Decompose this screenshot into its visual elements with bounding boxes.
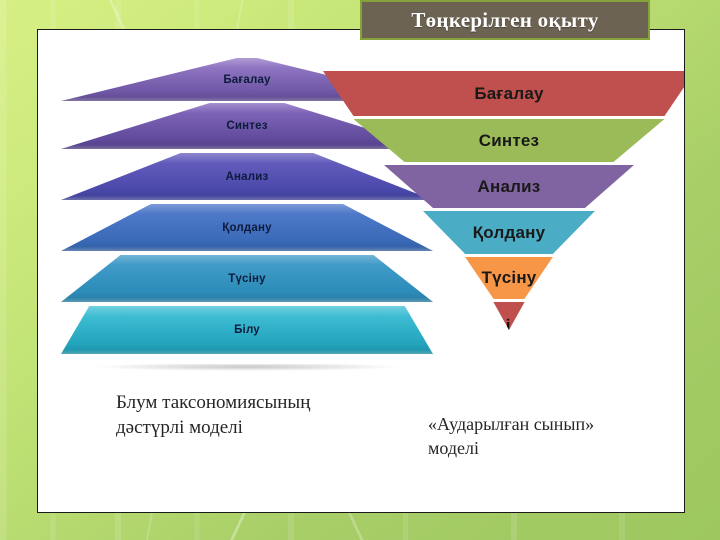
slide-content-card: Бағалау Синтез Анализ Қолдану Түсіну Біл <box>37 29 685 513</box>
inverted-level-label: Түсіну <box>465 268 553 288</box>
flipped-classroom-pyramid: Бағалау Синтез Анализ Қолдану Түсіну Біл… <box>323 71 685 333</box>
inverted-level-label: Анализ <box>384 177 634 197</box>
inverted-level-qoldanu: Қолдану <box>423 211 595 254</box>
pyramid-drop-shadow <box>96 364 398 371</box>
flipped-pyramid-caption: «Аударылған сынып» моделі <box>428 412 638 460</box>
inverted-level-label: Қолдану <box>423 223 595 243</box>
inverted-level-label: Білу <box>493 316 524 336</box>
page-title: Төңкерілген оқыту <box>411 8 598 33</box>
slide-title-box: Төңкерілген оқыту <box>360 0 650 40</box>
inverted-level-sintez: Синтез <box>354 119 665 162</box>
inverted-level-analiz: Анализ <box>384 165 634 208</box>
inverted-level-label: Бағалау <box>323 84 685 104</box>
inverted-level-bagalau: Бағалау <box>323 71 685 116</box>
inverted-level-bilu: Білу <box>493 302 524 330</box>
presentation-slide: Бағалау Синтез Анализ Қолдану Түсіну Біл <box>0 0 720 540</box>
inverted-level-tusinu: Түсіну <box>465 257 553 299</box>
classic-pyramid-caption: Блум таксономиясының дәстүрлі моделі <box>116 390 336 441</box>
inverted-level-label: Синтез <box>354 131 665 151</box>
